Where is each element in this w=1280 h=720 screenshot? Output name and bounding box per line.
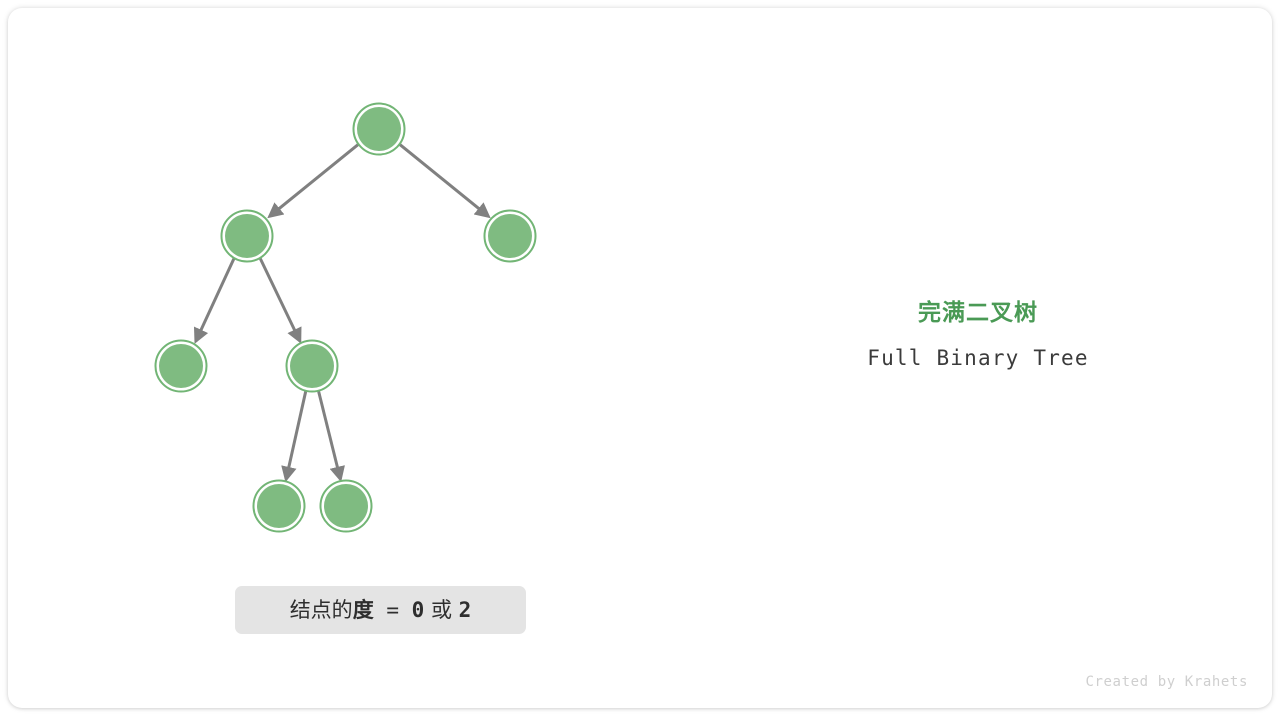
binary-tree-graphic xyxy=(8,8,1272,708)
tree-node[interactable] xyxy=(354,104,405,155)
tree-node[interactable] xyxy=(254,481,305,532)
tree-node[interactable] xyxy=(287,341,338,392)
caption-part-zero: 0 xyxy=(412,600,425,621)
caption-part-equals: = xyxy=(374,600,412,621)
tree-node[interactable] xyxy=(156,341,207,392)
edge-n2-n5 xyxy=(260,258,300,341)
caption-part-or: 或 xyxy=(424,600,458,621)
edge-n1-n2 xyxy=(270,144,359,216)
caption-part-1: 结点的 xyxy=(290,600,353,621)
edge-n5-n7 xyxy=(319,391,341,479)
caption-badge: 结点的度 = 0 或 2 xyxy=(235,586,526,634)
node-layer xyxy=(156,104,536,532)
credit-text: Created by Krahets xyxy=(1085,674,1248,690)
edge-n1-n3 xyxy=(399,144,488,216)
tree-node[interactable] xyxy=(222,211,273,262)
tree-node[interactable] xyxy=(485,211,536,262)
caption-part-two: 2 xyxy=(459,600,472,621)
edge-n2-n4 xyxy=(196,258,234,341)
edge-layer xyxy=(196,144,489,479)
diagram-card: 完满二叉树 Full Binary Tree 结点的度 = 0 或 2 Crea… xyxy=(8,8,1272,708)
tree-node[interactable] xyxy=(321,481,372,532)
edge-n5-n6 xyxy=(286,391,306,479)
caption-part-degree: 度 xyxy=(353,600,374,621)
